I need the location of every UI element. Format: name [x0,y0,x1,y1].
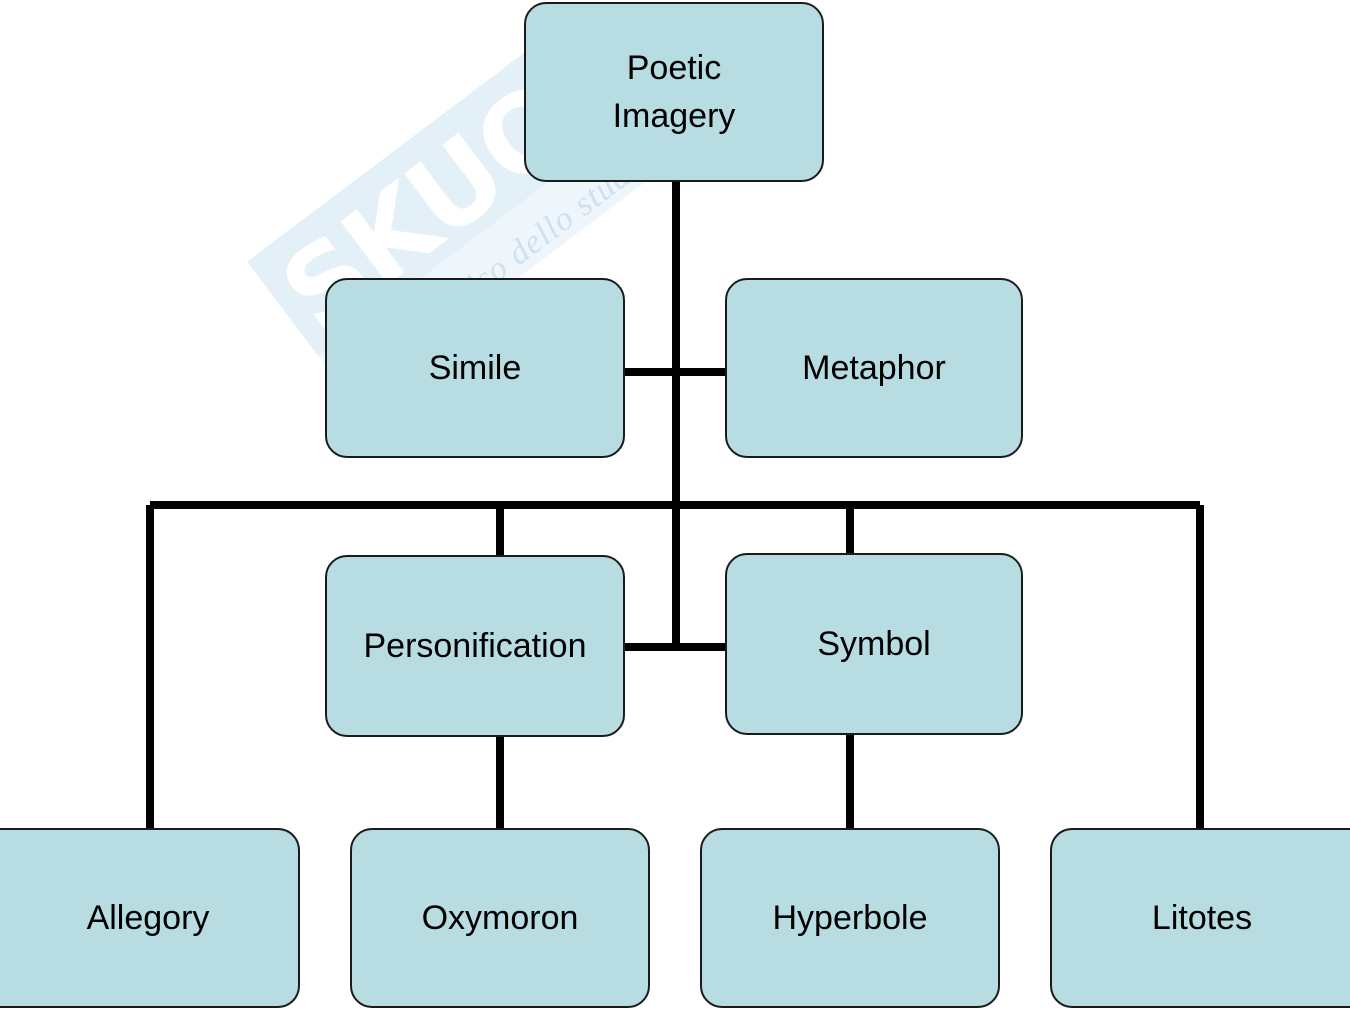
node-allegory[interactable]: Allegory [0,828,300,1008]
node-litotes[interactable]: Litotes [1050,828,1350,1008]
node-personification-label: Personification [355,622,594,670]
node-metaphor[interactable]: Metaphor [725,278,1023,458]
node-oxymoron[interactable]: Oxymoron [350,828,650,1008]
node-symbol-label: Symbol [809,620,938,668]
node-hyperbole[interactable]: Hyperbole [700,828,1000,1008]
node-metaphor-label: Metaphor [794,344,954,392]
node-symbol[interactable]: Symbol [725,553,1023,735]
node-hyperbole-label: Hyperbole [765,894,936,942]
node-allegory-label: Allegory [79,894,218,942]
node-simile-label: Simile [421,344,530,392]
node-simile[interactable]: Simile [325,278,625,458]
node-poetic-imagery[interactable]: Poetic Imagery [524,2,824,182]
diagram-canvas: SKUOLA .net il paradiso dello studente [0,0,1350,1013]
node-litotes-label: Litotes [1144,894,1260,942]
node-personification[interactable]: Personification [325,555,625,737]
node-poetic-imagery-label: Poetic Imagery [605,44,744,141]
node-oxymoron-label: Oxymoron [414,894,587,942]
